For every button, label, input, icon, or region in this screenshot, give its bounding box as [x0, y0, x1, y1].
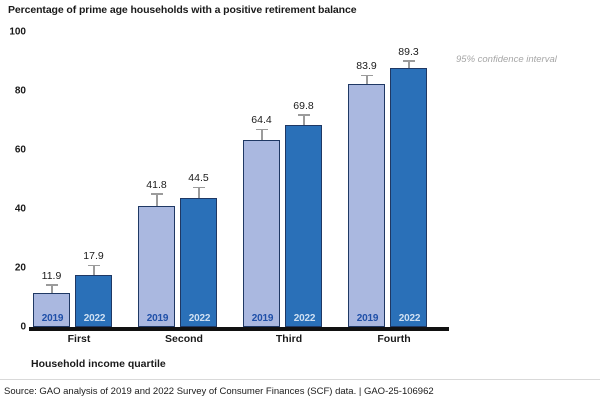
bar-slot-2019: 41.8 2019: [138, 37, 175, 327]
error-bar-cap-upper: [46, 284, 58, 286]
bar-2019[interactable]: 2019: [138, 206, 175, 327]
error-bar-cap-upper: [88, 265, 100, 267]
bar-slot-2022: 44.5 2022: [180, 37, 217, 327]
error-bar-cap-upper: [193, 187, 205, 189]
footer: Source: GAO analysis of 2019 and 2022 Su…: [0, 379, 600, 403]
bar-value-label: 11.9: [24, 270, 79, 282]
bar-2022[interactable]: 2022: [180, 198, 217, 327]
source-note: Source: GAO analysis of 2019 and 2022 Su…: [4, 386, 434, 397]
bar-2022[interactable]: 2022: [285, 125, 322, 327]
bars-layer: 11.9 2019 17.9 2022 41.8: [0, 22, 600, 342]
bar-series-label: 2022: [76, 313, 113, 324]
bar-series-label: 2022: [181, 313, 218, 324]
bar-slot-2022: 69.8 2022: [285, 37, 322, 327]
error-bar-cap-upper: [298, 114, 310, 116]
bar-2022[interactable]: 2022: [390, 68, 427, 327]
bar-value-label: 44.5: [171, 172, 226, 184]
confidence-interval-annotation: 95% confidence interval: [456, 54, 557, 65]
bar-value-label: 89.3: [381, 46, 436, 58]
bar-2019[interactable]: 2019: [33, 293, 70, 328]
bar-slot-2019: 64.4 2019: [243, 37, 280, 327]
bar-value-label: 17.9: [66, 250, 121, 262]
x-axis-category-label-second: Second: [139, 333, 229, 345]
chart-plot-area: 0 20 40 60 80 100 11.9 2019 17.9: [0, 22, 600, 342]
page-title: Percentage of prime age households with …: [8, 4, 356, 16]
bar-slot-2022: 17.9 2022: [75, 37, 112, 327]
x-axis-category-label-third: Third: [244, 333, 334, 345]
bar-value-label: 69.8: [276, 100, 331, 112]
bar-slot-2019: 11.9 2019: [33, 37, 70, 327]
x-axis-category-label-fourth: Fourth: [349, 333, 439, 345]
error-bar-cap-upper: [361, 75, 373, 77]
x-axis-title: Household income quartile: [31, 358, 166, 370]
x-axis-category-label-first: First: [34, 333, 124, 345]
bar-series-label: 2019: [139, 313, 176, 324]
bar-value-label: 64.4: [234, 114, 289, 126]
bar-series-label: 2019: [349, 313, 386, 324]
bar-series-label: 2022: [286, 313, 323, 324]
bar-series-label: 2019: [244, 313, 281, 324]
bar-value-label: 83.9: [339, 60, 394, 72]
bar-slot-2019: 83.9 2019: [348, 37, 385, 327]
bar-2019[interactable]: 2019: [243, 140, 280, 327]
error-bar-cap-upper: [256, 129, 268, 131]
bar-series-label: 2022: [391, 313, 428, 324]
bar-2022[interactable]: 2022: [75, 275, 112, 327]
error-bar-cap-upper: [151, 193, 163, 195]
bar-series-label: 2019: [34, 313, 71, 324]
bar-2019[interactable]: 2019: [348, 84, 385, 327]
error-bar-cap-upper: [403, 60, 415, 62]
bar-slot-2022: 89.3 2022: [390, 37, 427, 327]
